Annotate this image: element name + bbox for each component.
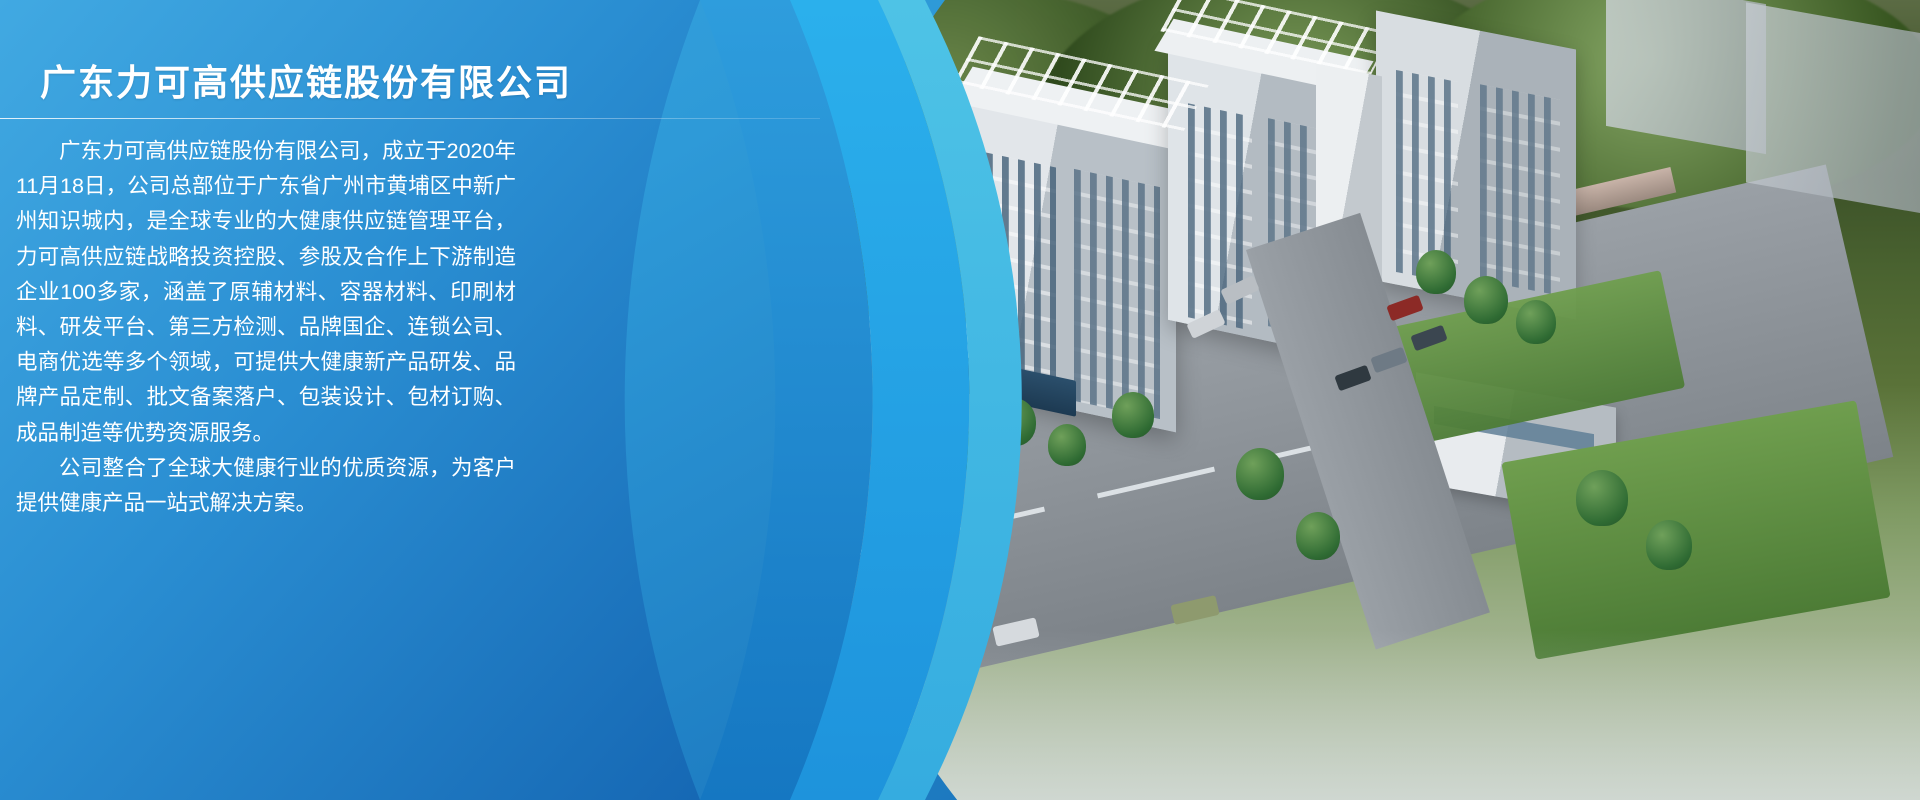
title-divider	[0, 118, 820, 119]
paragraph-1: 广东力可高供应链股份有限公司，成立于2020年11月18日，公司总部位于广东省广…	[16, 134, 516, 451]
paragraph-2: 公司整合了全球大健康行业的优质资源，为客户提供健康产品一站式解决方案。	[16, 451, 516, 521]
company-description: 广东力可高供应链股份有限公司，成立于2020年11月18日，公司总部位于广东省广…	[16, 134, 516, 521]
page-title: 广东力可高供应链股份有限公司	[40, 54, 572, 106]
text-panel: 广东力可高供应链股份有限公司 广东力可高供应链股份有限公司，成立于2020年11…	[0, 0, 700, 800]
banner-stage: 广东力可高供应链股份有限公司 广东力可高供应链股份有限公司，成立于2020年11…	[0, 0, 1920, 800]
